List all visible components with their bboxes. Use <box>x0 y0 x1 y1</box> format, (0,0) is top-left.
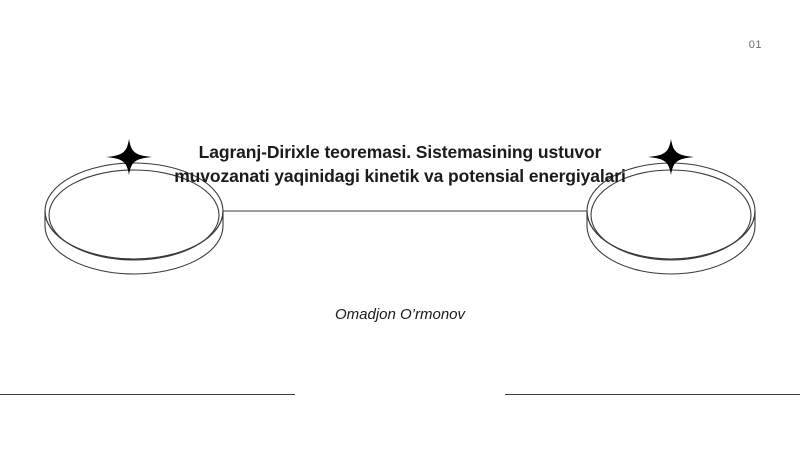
bottom-rule-left <box>0 394 295 395</box>
page-title: Lagranj-Dirixle teoremasi. Sistemasining… <box>150 140 650 188</box>
decorative-artwork <box>0 0 800 450</box>
slide-canvas: 01 Lagranj-Dirixle teoremasi. Sistemasin… <box>0 0 800 450</box>
sparkle-icon-right <box>648 139 694 175</box>
page-number: 01 <box>749 40 762 51</box>
bottom-rule-right <box>505 394 800 395</box>
title-container: Lagranj-Dirixle teoremasi. Sistemasining… <box>150 140 650 188</box>
author-container: Omadjon O’rmonov <box>150 306 650 324</box>
author-name: Omadjon O’rmonov <box>150 306 650 324</box>
sparkle-icon-left <box>106 139 152 175</box>
